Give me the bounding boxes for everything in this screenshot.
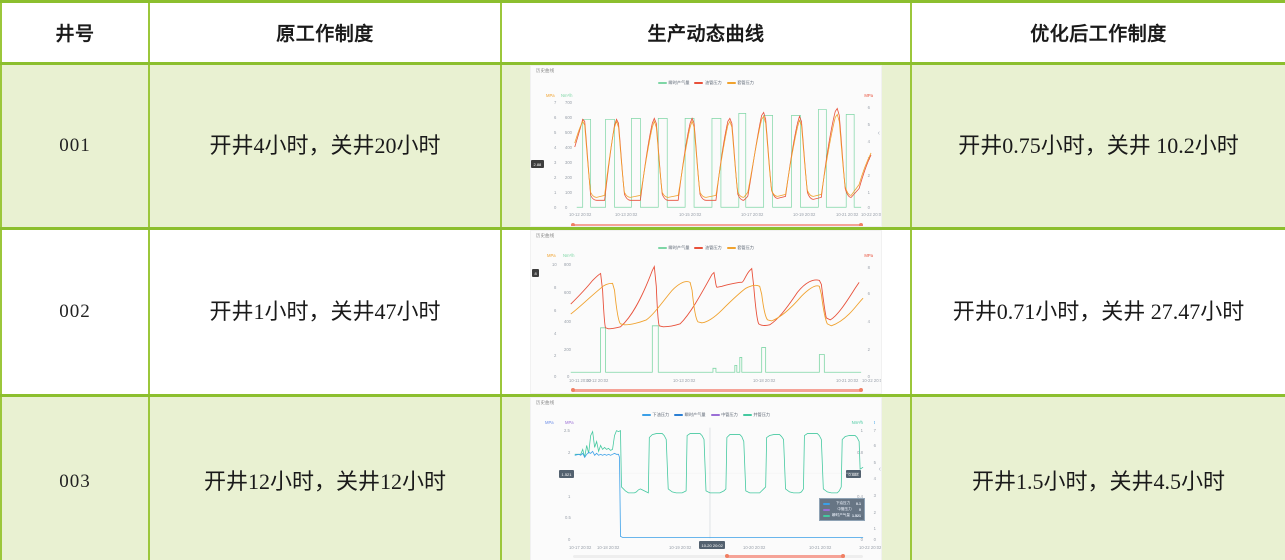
series-gas-rate bbox=[571, 326, 861, 372]
cell-well-number: 001 bbox=[1, 64, 149, 229]
header-row: 井号 原工作制度 生产动态曲线 优化后工作制度 bbox=[1, 2, 1285, 64]
header-well-number: 井号 bbox=[1, 2, 149, 64]
cell-production-curve: 历史曲线 瞬时产气量 油管压力 bbox=[501, 64, 911, 229]
chart-plot-area bbox=[531, 66, 881, 226]
history-curve-chart-002[interactable]: 历史曲线 瞬时产气量 油管压力 bbox=[530, 230, 882, 394]
cell-optimized-schedule: 开井1.5小时，关井4.5小时 bbox=[911, 396, 1285, 560]
series-gas-rate bbox=[577, 109, 861, 207]
table-body: 001 开井4小时，关井20小时 历史曲线 瞬时产气量 油管压力 bbox=[1, 64, 1285, 560]
cell-well-number: 002 bbox=[1, 229, 149, 396]
cell-production-curve: 历史曲线 下油压力 瞬时产气量 bbox=[501, 396, 911, 560]
history-curve-chart-003[interactable]: 历史曲线 下油压力 瞬时产气量 bbox=[530, 397, 882, 560]
cell-optimized-schedule: 开井0.75小时，关井 10.2小时 bbox=[911, 64, 1285, 229]
header-production-curve: 生产动态曲线 bbox=[501, 2, 911, 64]
history-curve-chart-001[interactable]: 历史曲线 瞬时产气量 油管压力 bbox=[530, 65, 882, 227]
header-original-schedule: 原工作制度 bbox=[149, 2, 501, 64]
series-casing-pressure bbox=[571, 282, 863, 326]
cell-optimized-schedule: 开井0.71小时，关井 27.47小时 bbox=[911, 229, 1285, 396]
cell-original-schedule: 开井12小时，关井12小时 bbox=[149, 396, 501, 560]
series-oil-pressure bbox=[575, 451, 863, 537]
chart-plot-area bbox=[531, 231, 881, 393]
table-row: 003 开井12小时，关井12小时 历史曲线 下油压力 瞬时产气量 bbox=[1, 396, 1285, 560]
chart-plot-area bbox=[531, 398, 881, 560]
table-header: 井号 原工作制度 生产动态曲线 优化后工作制度 bbox=[1, 2, 1285, 64]
header-optimized-schedule: 优化后工作制度 bbox=[911, 2, 1285, 64]
cell-production-curve: 历史曲线 瞬时产气量 油管压力 bbox=[501, 229, 911, 396]
screenshot-root: 井号 原工作制度 生产动态曲线 优化后工作制度 001 开井4小时，关井20小时… bbox=[0, 0, 1285, 560]
series-tubing-pressure bbox=[571, 267, 859, 329]
table-row: 001 开井4小时，关井20小时 历史曲线 瞬时产气量 油管压力 bbox=[1, 64, 1285, 229]
series-well-pressure bbox=[575, 431, 863, 493]
cell-well-number: 003 bbox=[1, 396, 149, 560]
table-row: 002 开井1小时，关井47小时 历史曲线 瞬时产气量 油管压力 bbox=[1, 229, 1285, 396]
cell-original-schedule: 开井1小时，关井47小时 bbox=[149, 229, 501, 396]
well-schedule-table: 井号 原工作制度 生产动态曲线 优化后工作制度 001 开井4小时，关井20小时… bbox=[0, 0, 1285, 560]
cell-original-schedule: 开井4小时，关井20小时 bbox=[149, 64, 501, 229]
